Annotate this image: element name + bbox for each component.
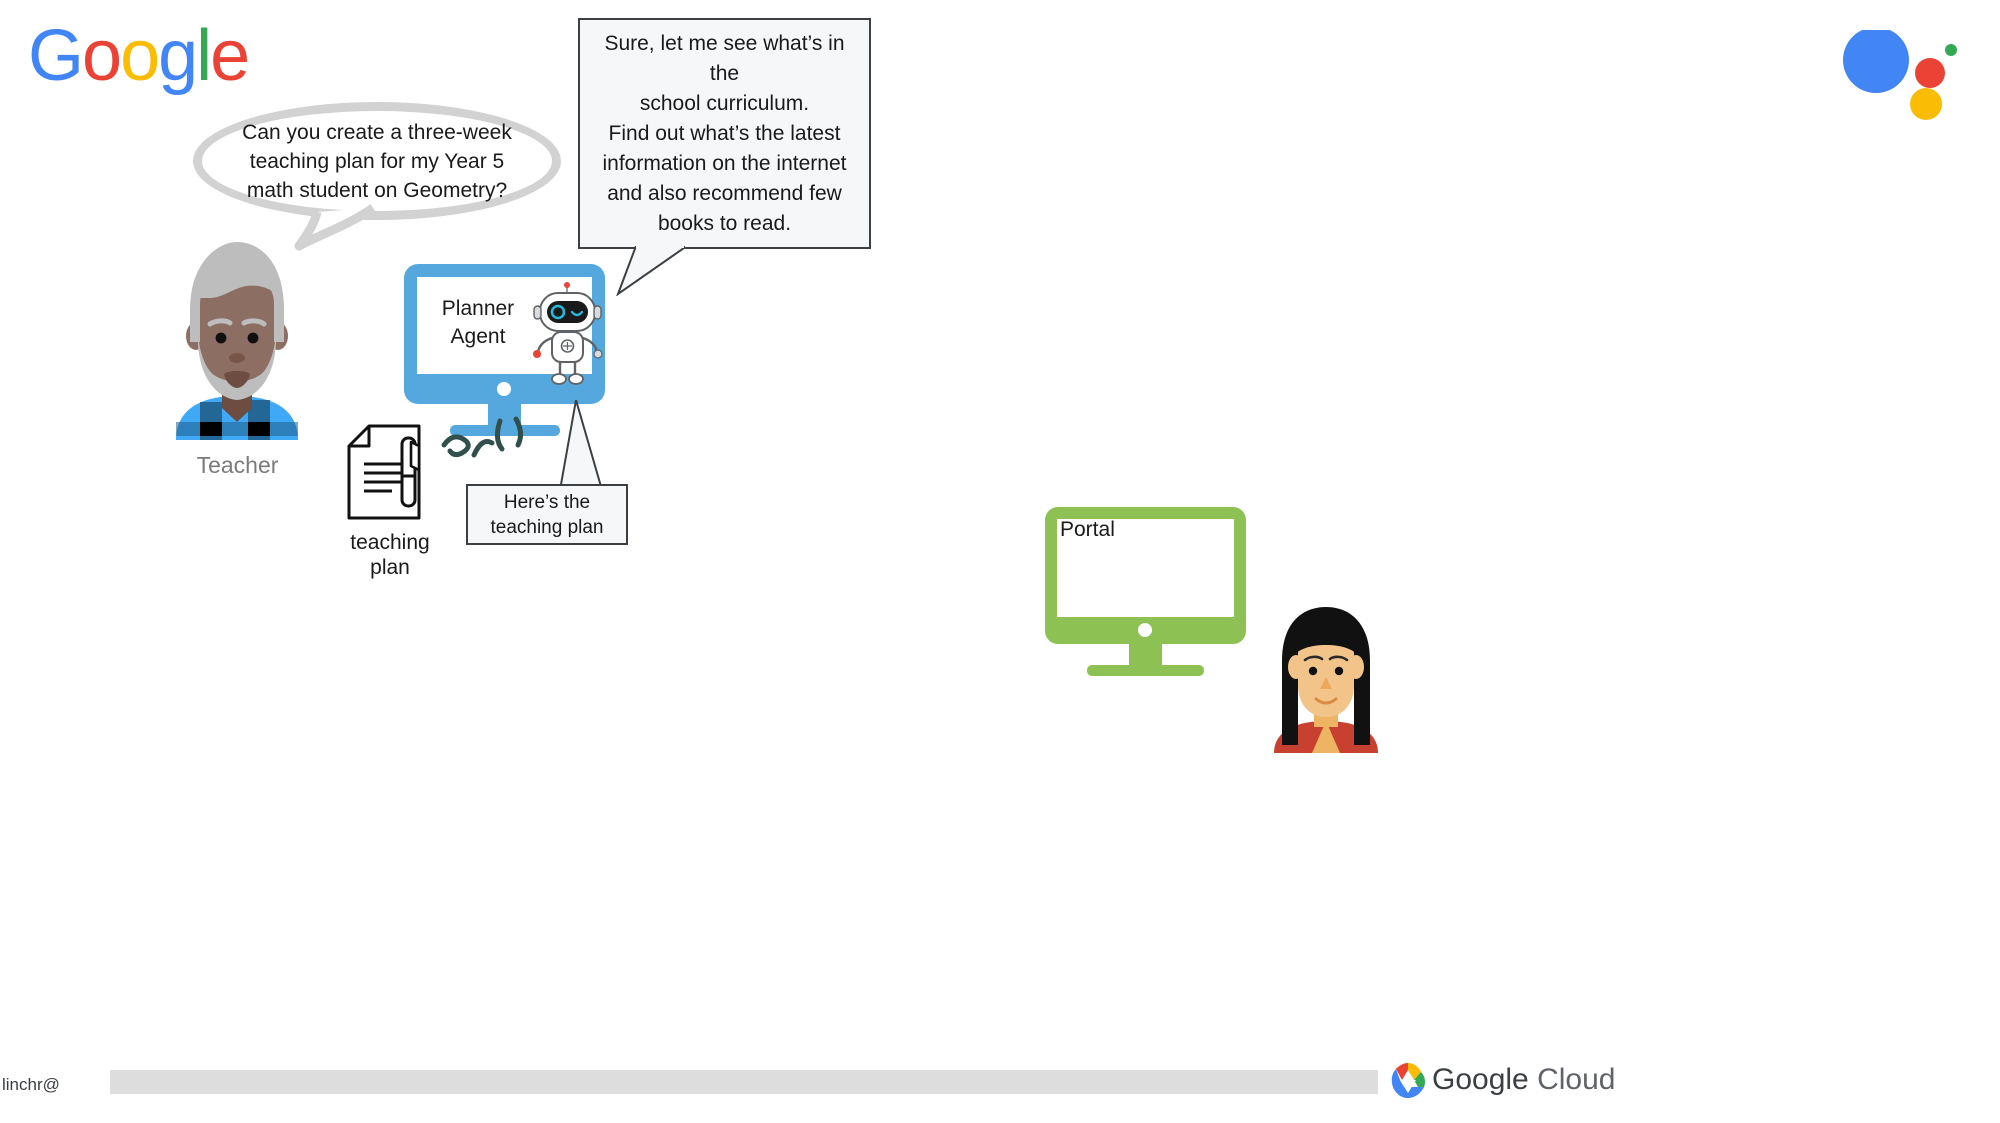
- planner-agent-title: Planner Agent: [430, 295, 526, 351]
- plan-callout: Here’s the teaching plan: [466, 484, 628, 545]
- teaching-plan-label: teaching plan: [330, 530, 450, 580]
- teacher-label: Teacher: [150, 452, 325, 479]
- student-avatar: [1272, 603, 1380, 753]
- agent-speech-bubble-text: Sure, let me see what’s in the school cu…: [580, 29, 869, 239]
- agent-speech-bubble: Sure, let me see what’s in the school cu…: [578, 18, 871, 249]
- handwriting-scribble: [438, 415, 548, 475]
- teacher-avatar: [170, 232, 304, 440]
- plan-callout-tail: [540, 400, 630, 492]
- teaching-plan-document-icon: [347, 424, 432, 520]
- google-logo: Google: [28, 20, 248, 92]
- google-cloud-logo-icon: [1388, 1060, 1428, 1102]
- google-cloud-wordmark: Google Cloud: [1432, 1063, 1615, 1097]
- plan-callout-text: Here’s the teaching plan: [490, 490, 603, 540]
- teacher-speech-bubble-text: Can you create a three-week teaching pla…: [208, 118, 546, 205]
- google-cloud-word-google: Google: [1432, 1063, 1529, 1096]
- footer-divider-bar: [110, 1070, 1378, 1094]
- portal-title: Portal: [1060, 518, 1115, 542]
- google-cloud-word-cloud: Cloud: [1537, 1063, 1615, 1096]
- google-assistant-dots-icon: [1840, 30, 1960, 140]
- footer-username: linchr@: [2, 1075, 60, 1095]
- robot-assistant-icon: [530, 282, 605, 390]
- agent-speech-bubble-tail: [596, 246, 686, 296]
- teacher-speech-bubble: Can you create a three-week teaching pla…: [193, 102, 561, 220]
